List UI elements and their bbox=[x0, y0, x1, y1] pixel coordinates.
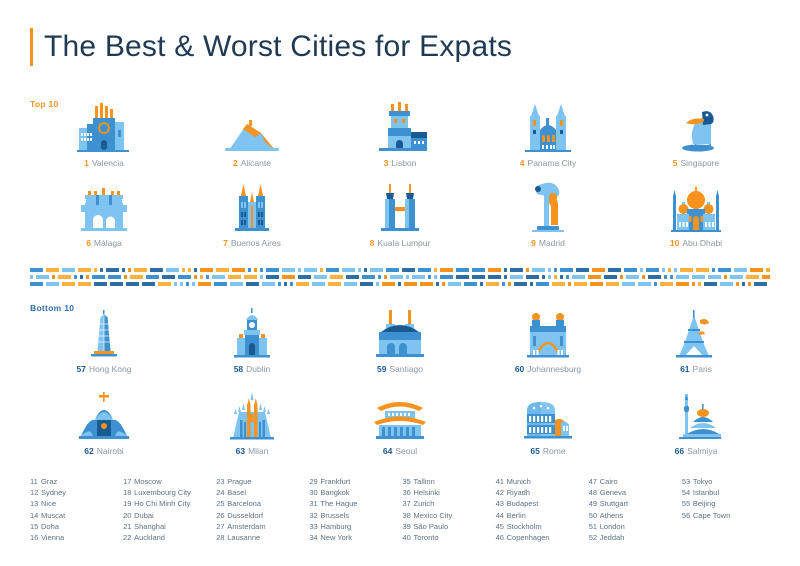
divider-dash bbox=[698, 282, 701, 286]
divider-dash bbox=[676, 282, 689, 286]
clock-tower-icon bbox=[221, 306, 283, 358]
list-item: 24Basel bbox=[216, 487, 309, 498]
divider-dash bbox=[36, 275, 49, 279]
list-item-name: Dusseldorf bbox=[227, 511, 263, 520]
divider-dash bbox=[606, 282, 619, 286]
list-item-number: 23 bbox=[216, 476, 227, 487]
divider-dash bbox=[58, 275, 71, 279]
list-item-name: Frankfurt bbox=[320, 477, 350, 486]
list-item: 13Nice bbox=[30, 498, 123, 509]
list-item-name: Auckland bbox=[134, 533, 165, 542]
list-item-name: New York bbox=[320, 533, 352, 542]
list-item-number: 15 bbox=[30, 521, 41, 532]
divider-dash bbox=[406, 275, 409, 279]
list-item-name: Barcelona bbox=[227, 499, 261, 508]
divider-dash bbox=[174, 282, 177, 286]
list-item: 41Munich bbox=[496, 476, 589, 487]
divider-dash bbox=[590, 282, 603, 286]
list-item: 43Budapest bbox=[496, 498, 589, 509]
list-item-name: Lausanne bbox=[227, 533, 260, 542]
list-item-name: Basel bbox=[227, 488, 246, 497]
divider-dash bbox=[124, 275, 127, 279]
divider-dash bbox=[554, 268, 557, 272]
grand-mosque-icon bbox=[665, 180, 727, 232]
city-rank: 64 bbox=[383, 446, 392, 456]
divider-dash bbox=[382, 282, 395, 286]
list-item-number: 33 bbox=[309, 521, 320, 532]
divider-row bbox=[30, 268, 770, 272]
divider-dash bbox=[182, 268, 185, 272]
city-rank: 6 bbox=[86, 238, 91, 248]
divider-dash bbox=[180, 282, 183, 286]
divider-dash bbox=[746, 275, 759, 279]
list-item: 14Muscat bbox=[30, 510, 123, 521]
divider-dash bbox=[622, 282, 635, 286]
list-item-name: Brussels bbox=[320, 511, 349, 520]
divider-dash bbox=[248, 268, 251, 272]
divider-dash bbox=[142, 282, 155, 286]
castle-hill-icon bbox=[221, 100, 283, 152]
divider-dash bbox=[680, 268, 693, 272]
divider-dash bbox=[200, 268, 213, 272]
list-item: 26Dusseldorf bbox=[216, 510, 309, 521]
city-caption: 65Rome bbox=[530, 447, 565, 456]
city-name: Rome bbox=[543, 446, 566, 456]
divider-dash bbox=[346, 275, 359, 279]
city-rank: 60 bbox=[515, 364, 524, 374]
city-name: Paris bbox=[693, 364, 712, 374]
city-card: 5Singapore bbox=[622, 100, 770, 168]
divider-dash bbox=[86, 275, 89, 279]
city-rank: 10 bbox=[670, 238, 679, 248]
list-item: 28Lausanne bbox=[216, 532, 309, 543]
colosseum-icon bbox=[517, 388, 579, 440]
divider-dash bbox=[724, 275, 727, 279]
divider-dash bbox=[398, 282, 401, 286]
list-item-number: 40 bbox=[403, 532, 414, 543]
divider-dash bbox=[192, 282, 195, 286]
divider-dash bbox=[554, 275, 557, 279]
divider-dash bbox=[488, 268, 501, 272]
divider-dash bbox=[412, 275, 425, 279]
divider-dash bbox=[440, 268, 453, 272]
divider-dash bbox=[530, 282, 533, 286]
list-item-name: Amsterdam bbox=[227, 522, 265, 531]
cathedral-spires-icon bbox=[221, 180, 283, 232]
list-item-number: 36 bbox=[403, 487, 414, 498]
city-card: 57Hong Kong bbox=[30, 306, 178, 374]
city-caption: 2Alicante bbox=[233, 159, 271, 168]
list-item: 52Jeddah bbox=[589, 532, 682, 543]
divider-dash bbox=[456, 268, 469, 272]
list-item-number: 55 bbox=[682, 498, 693, 509]
list-item: 44Berlin bbox=[496, 510, 589, 521]
list-item-name: Muscat bbox=[41, 511, 65, 520]
list-item: 19Ho Chi Minh City bbox=[123, 498, 216, 509]
divider-dash bbox=[526, 275, 539, 279]
list-item: 22Auckland bbox=[123, 532, 216, 543]
list-item-number: 11 bbox=[30, 476, 41, 487]
divider-dash bbox=[246, 282, 259, 286]
divider-dash bbox=[298, 275, 311, 279]
city-rank: 1 bbox=[84, 158, 89, 168]
divider-dash bbox=[576, 268, 589, 272]
divider-dash bbox=[194, 275, 197, 279]
divider-dash bbox=[130, 275, 143, 279]
divider-dash bbox=[376, 282, 379, 286]
list-item-number: 53 bbox=[682, 476, 693, 487]
list-item: 48Geneva bbox=[589, 487, 682, 498]
divider-dash bbox=[750, 268, 763, 272]
city-caption: 57Hong Kong bbox=[76, 365, 131, 374]
city-list-column: 47Cairo48Geneva49Stuttgart50Athens51Lond… bbox=[589, 476, 682, 543]
city-caption: 59Santiago bbox=[377, 365, 423, 374]
list-item-number: 34 bbox=[309, 532, 320, 543]
petronas-towers-icon bbox=[369, 180, 431, 232]
divider-dash bbox=[404, 282, 417, 286]
divider-dash bbox=[74, 275, 77, 279]
city-rank: 61 bbox=[680, 364, 689, 374]
list-item-name: Riyadh bbox=[507, 488, 530, 497]
alcazaba-gate-icon bbox=[73, 180, 135, 232]
divider-dash bbox=[200, 275, 203, 279]
divider-dash bbox=[162, 275, 175, 279]
divider-dash bbox=[260, 268, 263, 272]
divider-dash bbox=[326, 268, 339, 272]
list-item-name: Istanbul bbox=[693, 488, 719, 497]
divider-dash bbox=[402, 268, 415, 272]
list-item: 12Sydney bbox=[30, 487, 123, 498]
city-card: 3Lisbon bbox=[326, 100, 474, 168]
list-item-name: Geneva bbox=[600, 488, 626, 497]
kuwait-towers-icon bbox=[665, 388, 727, 440]
divider-dash bbox=[46, 268, 59, 272]
divider-dash bbox=[504, 275, 507, 279]
divider-dash bbox=[692, 282, 695, 286]
divider-dash bbox=[472, 275, 485, 279]
list-item-name: Cairo bbox=[600, 477, 618, 486]
list-item-name: Hamburg bbox=[320, 522, 351, 531]
divider-dash bbox=[260, 275, 263, 279]
divider-dash bbox=[436, 282, 439, 286]
divider-dash bbox=[676, 275, 689, 279]
divider-dash bbox=[108, 275, 121, 279]
list-item-name: Shanghai bbox=[134, 522, 166, 531]
list-item-name: Ho Chi Minh City bbox=[134, 499, 190, 508]
divider-dash bbox=[486, 282, 499, 286]
list-item-number: 38 bbox=[403, 510, 414, 521]
divider-dash bbox=[262, 282, 275, 286]
divider-dash bbox=[568, 282, 571, 286]
divider-dash bbox=[514, 282, 527, 286]
list-item-number: 52 bbox=[589, 532, 600, 543]
divider-row bbox=[30, 282, 770, 286]
top10-row-2: 6Málaga 7Buenos Aires 8Kuala Lumpur 9Mad… bbox=[30, 180, 770, 248]
divider-dash bbox=[660, 282, 673, 286]
divider-dash bbox=[440, 275, 453, 279]
list-item-name: Sydney bbox=[41, 488, 66, 497]
list-item: 50Athens bbox=[589, 510, 682, 521]
list-item-name: Doha bbox=[41, 522, 59, 531]
city-caption: 62Nairobi bbox=[84, 447, 123, 456]
divider-dash bbox=[314, 275, 327, 279]
city-name: Kuala Lumpur bbox=[377, 238, 430, 248]
top10-row-1: 1Valencia 2Alicante 3Lisbon 4Panama City… bbox=[30, 100, 770, 168]
city-caption: 5Singapore bbox=[673, 159, 720, 168]
list-item-name: Luxembourg City bbox=[134, 488, 191, 497]
divider-dash bbox=[126, 282, 139, 286]
divider-dash bbox=[304, 268, 317, 272]
list-item: 42Riyadh bbox=[496, 487, 589, 498]
divider-dash bbox=[92, 275, 105, 279]
divider-dash bbox=[420, 282, 433, 286]
list-item-name: Berlin bbox=[507, 511, 526, 520]
city-name: Buenos Aires bbox=[231, 238, 281, 248]
divider-dash bbox=[384, 275, 387, 279]
list-item-number: 29 bbox=[309, 476, 320, 487]
city-rank: 59 bbox=[377, 364, 386, 374]
divider-dash bbox=[542, 275, 545, 279]
list-item-name: Athens bbox=[600, 511, 623, 520]
city-caption: 63Milan bbox=[236, 447, 269, 456]
city-list-column: 17Moscow18Luxembourg City19Ho Chi Minh C… bbox=[123, 476, 216, 543]
city-name: Panama City bbox=[528, 158, 577, 168]
divider-dash bbox=[344, 282, 357, 286]
city-caption: 66Salmiya bbox=[675, 447, 718, 456]
list-item: 55Beijing bbox=[682, 498, 775, 509]
divider-dash bbox=[480, 282, 483, 286]
list-item-number: 14 bbox=[30, 510, 41, 521]
divider-dash bbox=[228, 275, 241, 279]
list-item-number: 56 bbox=[682, 510, 693, 521]
divider-dash bbox=[434, 268, 437, 272]
city-card: 59Santiago bbox=[326, 306, 474, 374]
city-card: 2Alicante bbox=[178, 100, 326, 168]
divider-dash bbox=[266, 268, 279, 272]
city-card: 58Dublin bbox=[178, 306, 326, 374]
belem-tower-icon bbox=[369, 100, 431, 152]
list-item: 40Toronto bbox=[403, 532, 496, 543]
city-list-column: 35Tallinn36Helsinki37Zurich38Mexico City… bbox=[403, 476, 496, 543]
city-caption: 6Málaga bbox=[86, 239, 122, 248]
divider-dash bbox=[704, 282, 717, 286]
divider-dash bbox=[52, 275, 55, 279]
list-item-number: 41 bbox=[496, 476, 507, 487]
divider-dash bbox=[178, 275, 191, 279]
divider-dash bbox=[442, 282, 445, 286]
divider-dash bbox=[390, 275, 403, 279]
list-item-number: 54 bbox=[682, 487, 693, 498]
divider-dash bbox=[370, 268, 383, 272]
divider-dash bbox=[766, 268, 770, 272]
city-name: Lisbon bbox=[391, 158, 416, 168]
divider-dash bbox=[662, 268, 665, 272]
list-item-number: 28 bbox=[216, 532, 227, 543]
list-item-name: London bbox=[600, 522, 625, 531]
divider-dash bbox=[692, 275, 705, 279]
divider-dash bbox=[638, 282, 651, 286]
divider-dash bbox=[216, 268, 229, 272]
list-item-number: 31 bbox=[309, 498, 320, 509]
divider-dash bbox=[78, 282, 91, 286]
divider-dash bbox=[626, 275, 639, 279]
divider-dash bbox=[742, 282, 745, 286]
divider-dash bbox=[588, 275, 601, 279]
divider-dash bbox=[278, 282, 281, 286]
list-item: 23Prague bbox=[216, 476, 309, 487]
list-item-number: 17 bbox=[123, 476, 134, 487]
city-caption: 64Seoul bbox=[383, 447, 417, 456]
city-rank: 57 bbox=[76, 364, 85, 374]
list-item-number: 13 bbox=[30, 498, 41, 509]
city-name: Valencia bbox=[92, 158, 124, 168]
list-item-number: 27 bbox=[216, 521, 227, 532]
divider-dash bbox=[646, 268, 659, 272]
bottom10-row-2: 62Nairobi 63Milan 64Seoul 65Rome 66Salmi… bbox=[30, 388, 770, 456]
list-item-number: 12 bbox=[30, 487, 41, 498]
merlion-icon bbox=[665, 100, 727, 152]
city-name: Madrid bbox=[539, 238, 565, 248]
remaining-cities-list: 11Graz12Sydney13Nice14Muscat15Doha16Vien… bbox=[30, 476, 775, 543]
city-card: 10Abu Dhabi bbox=[622, 180, 770, 248]
list-item-name: Munich bbox=[507, 477, 531, 486]
hill-monument-icon bbox=[73, 388, 135, 440]
divider-dash bbox=[552, 282, 565, 286]
list-item-name: Vienna bbox=[41, 533, 64, 542]
city-name: Seoul bbox=[395, 446, 417, 456]
skyscraper-icon bbox=[73, 306, 135, 358]
list-item: 29Frankfurt bbox=[309, 476, 402, 487]
list-item-name: Budapest bbox=[507, 499, 539, 508]
list-item-name: Moscow bbox=[134, 477, 162, 486]
divider-dash bbox=[378, 275, 381, 279]
city-rank: 9 bbox=[531, 238, 536, 248]
bottom10-row-1: 57Hong Kong 58Dublin 59Santiago 60Johann… bbox=[30, 306, 770, 374]
city-name: Abu Dhabi bbox=[682, 238, 722, 248]
divider-dash bbox=[282, 275, 295, 279]
divider-dash bbox=[62, 282, 75, 286]
city-caption: 4Panama City bbox=[520, 159, 576, 168]
city-card: 64Seoul bbox=[326, 388, 474, 456]
list-item: 37Zurich bbox=[403, 498, 496, 509]
divider-dash bbox=[664, 275, 667, 279]
list-item-number: 50 bbox=[589, 510, 600, 521]
city-list-column: 29Frankfurt30Bangkok31The Hague32Brussel… bbox=[309, 476, 402, 543]
divider-dash bbox=[572, 275, 585, 279]
city-card: 62Nairobi bbox=[30, 388, 178, 456]
list-item-number: 51 bbox=[589, 521, 600, 532]
divider-dash bbox=[592, 268, 605, 272]
list-item-name: Tokyo bbox=[693, 477, 713, 486]
list-item-number: 35 bbox=[403, 476, 414, 487]
divider-dash bbox=[730, 275, 743, 279]
city-caption: 9Madrid bbox=[531, 239, 565, 248]
list-item-name: Copenhagen bbox=[507, 533, 550, 542]
divider-dash bbox=[146, 275, 159, 279]
list-item-number: 22 bbox=[123, 532, 134, 543]
divider-dash bbox=[290, 282, 293, 286]
divider-dash bbox=[100, 268, 103, 272]
divider-dash bbox=[566, 275, 569, 279]
list-item: 35Tallinn bbox=[403, 476, 496, 487]
city-card: 66Salmiya bbox=[622, 388, 770, 456]
divider-dash bbox=[504, 268, 507, 272]
city-card: 4Panama City bbox=[474, 100, 622, 168]
list-item-name: Dubai bbox=[134, 511, 154, 520]
city-name: Málaga bbox=[94, 238, 122, 248]
divider-dash bbox=[46, 282, 59, 286]
cathedral-icon bbox=[73, 100, 135, 152]
list-item: 15Doha bbox=[30, 521, 123, 532]
list-item: 45Stockholm bbox=[496, 521, 589, 532]
page-title: The Best & Worst Cities for Expats bbox=[44, 30, 512, 64]
list-item-number: 25 bbox=[216, 498, 227, 509]
divider-dash bbox=[360, 282, 373, 286]
divider-dash bbox=[428, 275, 431, 279]
list-item: 18Luxembourg City bbox=[123, 487, 216, 498]
city-list-column: 23Prague24Basel25Barcelona26Dusseldorf27… bbox=[216, 476, 309, 543]
list-item-number: 44 bbox=[496, 510, 507, 521]
divider-dash bbox=[560, 275, 563, 279]
divider-dash bbox=[620, 275, 623, 279]
divider-dash bbox=[364, 268, 367, 272]
divider-dash bbox=[670, 275, 673, 279]
decorative-divider bbox=[30, 268, 770, 288]
divider-dash bbox=[418, 268, 431, 272]
list-item-name: Stuttgart bbox=[600, 499, 628, 508]
city-rank: 66 bbox=[675, 446, 684, 456]
list-item: 54Istanbul bbox=[682, 487, 775, 498]
divider-dash bbox=[762, 275, 770, 279]
divider-dash bbox=[748, 282, 751, 286]
list-item: 11Graz bbox=[30, 476, 123, 487]
divider-dash bbox=[30, 275, 33, 279]
divider-dash bbox=[206, 275, 209, 279]
list-item-name: Tallinn bbox=[414, 477, 435, 486]
city-rank: 63 bbox=[236, 446, 245, 456]
list-item-name: Mexico City bbox=[414, 511, 453, 520]
list-item: 47Cairo bbox=[589, 476, 682, 487]
divider-dash bbox=[508, 282, 511, 286]
list-item: 21Shanghai bbox=[123, 521, 216, 532]
divider-dash bbox=[186, 282, 189, 286]
divider-dash bbox=[30, 282, 43, 286]
list-item-name: São Paulo bbox=[414, 522, 449, 531]
divider-dash bbox=[358, 268, 361, 272]
divider-dash bbox=[150, 268, 163, 272]
city-card: 61Paris bbox=[622, 306, 770, 374]
city-rank: 4 bbox=[520, 158, 525, 168]
city-rank: 65 bbox=[530, 446, 539, 456]
divider-dash bbox=[548, 268, 551, 272]
divider-dash bbox=[708, 275, 721, 279]
divider-dash bbox=[230, 282, 243, 286]
divider-dash bbox=[328, 282, 341, 286]
divider-dash bbox=[122, 268, 125, 272]
cathedral-towers-icon bbox=[517, 100, 579, 152]
list-item-number: 47 bbox=[589, 476, 600, 487]
divider-dash bbox=[134, 268, 147, 272]
divider-dash bbox=[526, 268, 529, 272]
divider-dash bbox=[604, 275, 617, 279]
divider-dash bbox=[712, 268, 715, 272]
city-name: Nairobi bbox=[97, 446, 124, 456]
list-item-name: Nice bbox=[41, 499, 56, 508]
divider-dash bbox=[254, 268, 257, 272]
list-item: 31The Hague bbox=[309, 498, 402, 509]
list-item: 20Dubai bbox=[123, 510, 216, 521]
list-item: 27Amsterdam bbox=[216, 521, 309, 532]
